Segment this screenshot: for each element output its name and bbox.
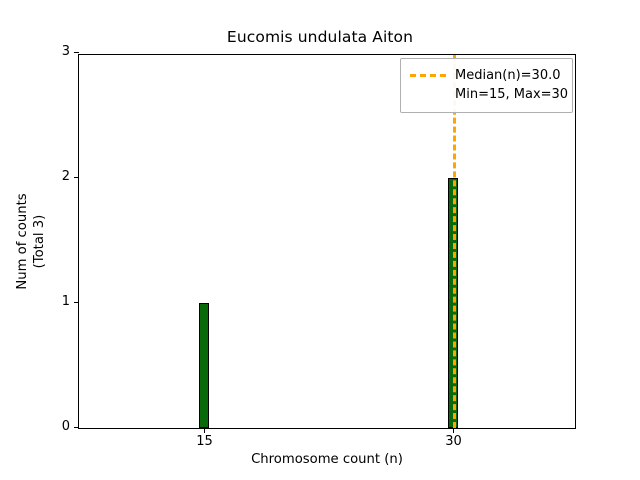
legend-entry-minmax: Min=15, Max=30 — [410, 85, 563, 104]
legend-entry-median: Median(n)=30.0 — [410, 66, 563, 85]
x-axis-label: Chromosome count (n) — [78, 452, 576, 467]
x-tick-30: 30 — [453, 428, 454, 433]
x-tick-15: 15 — [204, 428, 205, 433]
y-tick-label-2: 2 — [62, 169, 70, 184]
y-tick-2: 2 — [74, 177, 79, 178]
y-tick-label-1: 1 — [62, 294, 70, 309]
y-tick-label-0: 0 — [62, 419, 70, 434]
median-dashed-line-icon — [410, 74, 446, 77]
chart-title: Eucomis undulata Aiton — [0, 28, 640, 46]
y-tick-label-3: 3 — [62, 44, 70, 59]
legend-label-minmax: Min=15, Max=30 — [455, 87, 568, 102]
chart-figure: Eucomis undulata Aiton 0 1 2 3 15 30 — [0, 0, 640, 480]
y-axis-label-line2: (Total 3) — [31, 54, 48, 429]
y-tick-1: 1 — [74, 302, 79, 303]
x-tick-label-15: 15 — [196, 434, 213, 449]
y-axis-label-line1: Num of counts — [14, 54, 31, 429]
bar-15 — [199, 303, 209, 428]
x-tick-label-30: 30 — [445, 434, 462, 449]
legend-label-median: Median(n)=30.0 — [455, 68, 561, 83]
y-axis-label: Num of counts (Total 3) — [14, 54, 58, 429]
legend: Median(n)=30.0 Min=15, Max=30 — [400, 58, 573, 113]
y-tick-0: 0 — [74, 427, 79, 428]
y-tick-3: 3 — [74, 52, 79, 53]
